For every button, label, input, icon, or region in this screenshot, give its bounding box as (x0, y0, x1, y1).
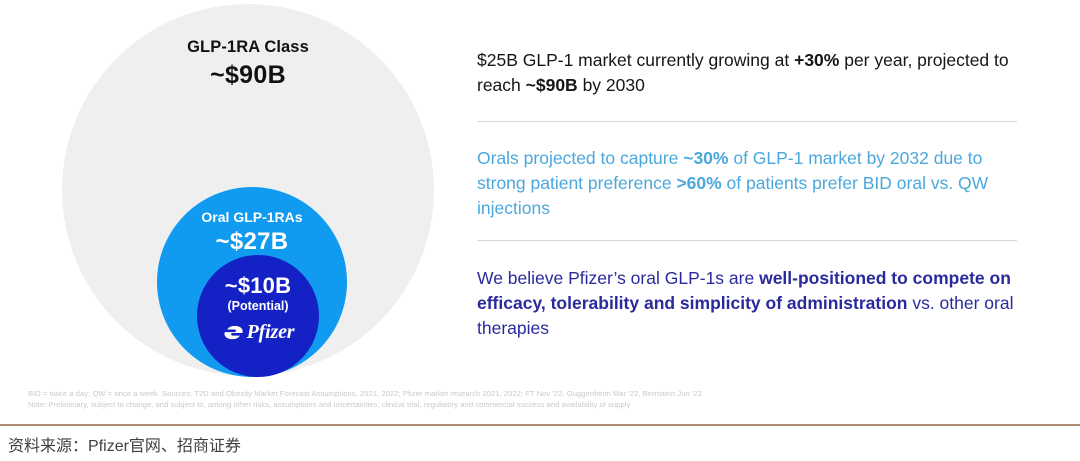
pfizer-emblem-icon (222, 322, 243, 343)
statement-pfizer-position: We believe Pfizer’s oral GLP-1s are well… (477, 266, 1025, 341)
statement-run: Orals projected to capture (477, 148, 683, 168)
nested-circles-diagram: GLP-1RA Class ~$90B Oral GLP-1RAs ~$27B … (0, 0, 455, 385)
outer-circle-title: GLP-1RA Class (62, 38, 434, 57)
statement-oral-share: Orals projected to capture ~30% of GLP-1… (477, 146, 1025, 221)
statement-market-growth: $25B GLP-1 market currently growing at +… (477, 48, 1025, 98)
divider-line-2 (477, 240, 1017, 241)
slide-canvas: GLP-1RA Class ~$90B Oral GLP-1RAs ~$27B … (0, 0, 1080, 461)
statement-run: by 2030 (578, 75, 645, 95)
statement-run: +30% (794, 50, 839, 70)
source-suffix: 官网、招商证券 (129, 438, 241, 455)
divider-line-1 (477, 121, 1017, 122)
pfizer-logo: Pfizer (197, 319, 319, 345)
inner-circle-value: ~$10B (197, 273, 319, 299)
pfizer-wordmark: Pfizer (247, 322, 295, 342)
inner-circle-subtitle: (Potential) (197, 299, 319, 313)
statement-run: ~30% (683, 148, 728, 168)
statement-run: We believe Pfizer’s oral GLP-1s are (477, 268, 759, 288)
footnotes-block: BID = twice a day; QW = once a week. Sou… (28, 388, 1058, 410)
statement-run: ~$90B (526, 75, 578, 95)
statement-run: >60% (676, 173, 721, 193)
source-separator-rule (0, 424, 1080, 426)
outer-circle-value: ~$90B (62, 61, 434, 90)
middle-circle-title: Oral GLP-1RAs (157, 209, 347, 225)
statement-run: $25B GLP-1 market currently growing at (477, 50, 794, 70)
circle-pfizer-potential: ~$10B (Potential) Pfizer (197, 255, 319, 377)
footnote-line-2: Note: Preliminary, subject to change, an… (28, 399, 1058, 410)
statements-column: $25B GLP-1 market currently growing at +… (455, 0, 1035, 380)
source-attribution: 资料来源：Pfizer官网、招商证券 (8, 432, 241, 456)
footnote-line-1: BID = twice a day; QW = once a week. Sou… (28, 388, 1058, 399)
middle-circle-value: ~$27B (157, 228, 347, 256)
source-prefix: 资料来源： (8, 438, 88, 455)
source-latin-name: Pfizer (88, 438, 129, 455)
